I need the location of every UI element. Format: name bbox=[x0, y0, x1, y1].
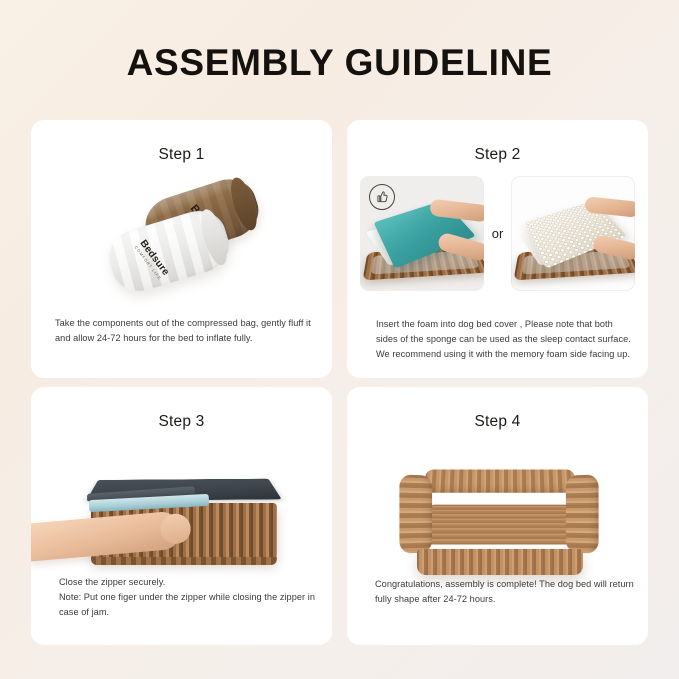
step-2-title: Step 2 bbox=[347, 146, 648, 164]
zipper-closing-illustration bbox=[31, 455, 332, 581]
brand-label-white: Bedsure COMFORT LIFE bbox=[133, 238, 171, 281]
step-3-title: Step 3 bbox=[31, 413, 332, 431]
white-compressed-roll: Bedsure COMFORT LIFE bbox=[103, 204, 236, 298]
finished-dog-bed bbox=[399, 467, 599, 571]
bed-back-bolster bbox=[424, 469, 575, 492]
step-card-3: Step 3 Close the zipper securely. Note: … bbox=[31, 387, 332, 645]
step-1-title: Step 1 bbox=[31, 146, 332, 164]
bed-left-bolster bbox=[399, 474, 432, 553]
step-3-caption: Close the zipper securely. Note: Put one… bbox=[59, 575, 316, 620]
foam-insertion-illustration: or bbox=[347, 172, 648, 294]
step-card-2: Step 2 or bbox=[347, 120, 648, 378]
step-2-caption: Insert the foam into dog bed cover , Ple… bbox=[376, 317, 634, 362]
bed-sleeping-surface bbox=[409, 505, 591, 545]
page-title: ASSEMBLY GUIDELINE bbox=[0, 42, 679, 84]
steps-grid: Step 1 Bedsure COMFORT LIFE Bedsure COMF… bbox=[31, 120, 648, 645]
step-3-caption-line-2: Note: Put one figer under the zipper whi… bbox=[59, 590, 316, 620]
step-4-caption: Congratulations, assembly is complete! T… bbox=[375, 577, 634, 607]
bed-front-edge bbox=[417, 549, 583, 575]
step-3-illustration bbox=[31, 455, 332, 581]
bed-right-bolster bbox=[566, 474, 599, 553]
assembly-guideline-page: ASSEMBLY GUIDELINE Step 1 Bedsure COMFOR… bbox=[0, 0, 679, 679]
step-4-illustration bbox=[347, 457, 648, 593]
compressed-bags-illustration: Bedsure COMFORT LIFE Bedsure COMFORT LIF… bbox=[31, 176, 332, 316]
thumbs-up-icon bbox=[369, 184, 395, 210]
foam-panel-eggcrate-side bbox=[511, 176, 635, 291]
step-card-4: Step 4 Congratulations, assembly is comp… bbox=[347, 387, 648, 645]
finished-dog-bed-illustration bbox=[347, 457, 648, 593]
step-3-caption-line-1: Close the zipper securely. bbox=[59, 575, 316, 590]
step-1-caption: Take the components out of the compresse… bbox=[55, 316, 312, 346]
step-4-title: Step 4 bbox=[347, 413, 648, 431]
step-card-1: Step 1 Bedsure COMFORT LIFE Bedsure COMF… bbox=[31, 120, 332, 378]
step-2-illustration: or bbox=[347, 172, 648, 294]
or-divider-label: or bbox=[489, 226, 507, 241]
foam-panel-teal-side bbox=[360, 176, 484, 291]
step-1-illustration: Bedsure COMFORT LIFE Bedsure COMFORT LIF… bbox=[31, 176, 332, 316]
